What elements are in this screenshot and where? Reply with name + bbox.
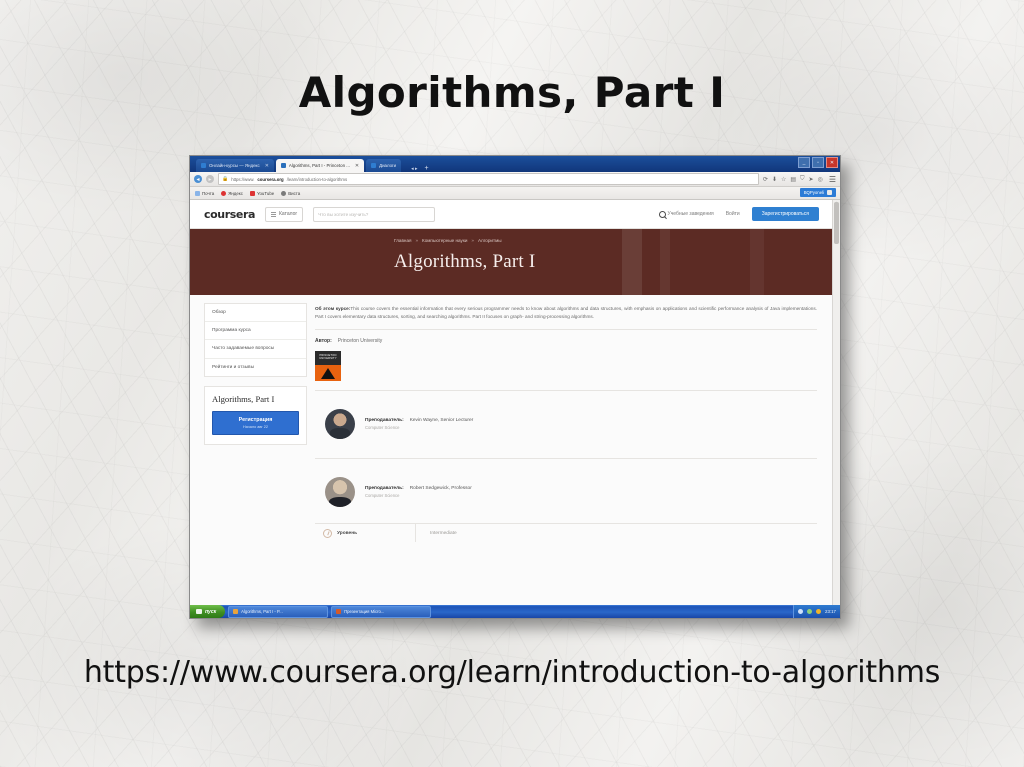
globe-icon [281,191,286,196]
star-icon[interactable]: ☆ [781,176,786,183]
account-icon[interactable]: ◎ [818,176,823,183]
forward-icon[interactable]: ▸ [206,175,214,183]
avatar [325,477,355,507]
shield-icon[interactable]: ⛉ [800,176,805,183]
teacher-department: Computer Science [365,425,473,430]
breadcrumb-item-cs[interactable]: Компьютерные науки [422,238,467,243]
divider [315,329,817,330]
hero-glare [622,229,642,295]
close-window-icon[interactable]: ✕ [826,157,838,168]
taskbar-item-powerpoint[interactable]: Презентация Micro... [331,606,431,618]
browser-viewport: coursera Каталог Что вы хотите изучить? … [190,200,840,618]
bookmark-label: Почта [202,191,214,196]
web-page: coursera Каталог Что вы хотите изучить? … [190,200,833,618]
teacher-line: Преподаватель:Robert Sedgewick, Professo… [365,486,472,491]
teacher-name[interactable]: Robert Sedgewick, Professor [410,486,472,491]
enroll-button-label: Регистрация [215,417,296,423]
hero-glare [660,229,670,295]
breadcrumb-item-home[interactable]: Главная [394,238,411,243]
teacher-line: Преподаватель:Kevin Wayne, Senior Lectur… [365,418,473,423]
lock-icon: 🔒 [222,176,228,182]
browser-window: Онлайн-курсы — Яндекс ✕ Algorithms, Part… [189,155,841,619]
mail-icon [195,191,200,196]
breadcrumb-separator: » [415,238,418,243]
favicon-icon [201,163,206,168]
close-icon[interactable]: ✕ [355,163,359,169]
shield-shape-icon [321,368,335,379]
teacher-row: Преподаватель:Robert Sedgewick, Professo… [315,467,817,517]
breadcrumb-separator: » [471,238,474,243]
browser-tab-1[interactable]: Онлайн-курсы — Яндекс ✕ [196,159,274,172]
start-button[interactable]: пуск [190,605,225,618]
reload-icon[interactable]: ⟳ [763,176,768,183]
course-content: Обзор Программа курса Часто задаваемые в… [190,295,833,542]
url-domain: coursera.org [257,177,283,182]
bookmark-yandex[interactable]: Яндекс [221,191,243,196]
page-scrollbar[interactable]: ▲ ▼ [832,200,840,618]
teacher-info: Преподаватель:Robert Sedgewick, Professo… [365,486,472,498]
minimize-icon[interactable]: _ [798,157,810,168]
yandex-icon [221,191,226,196]
enroll-button-sublabel: Начало авг 22 [215,425,296,429]
course-main: Об этом курсе:This course covers the ess… [307,295,833,542]
enroll-button[interactable]: Регистрация Начало авг 22 [212,411,299,435]
course-hero: Главная » Компьютерные науки » Алгоритмы… [190,229,833,295]
enroll-card-title: Algorithms, Part I [212,394,299,405]
coursera-header: coursera Каталог Что вы хотите изучить? … [190,200,833,229]
close-icon[interactable]: ✕ [265,163,269,169]
user-avatar-icon [827,190,832,195]
favicon-icon [371,163,376,168]
princeton-logo-icon: PRINCETON UNIVERSITY [315,351,341,381]
author-value[interactable]: Princeton University [338,338,382,344]
bookmarks-bar: Почта Яндекс YouTube Виста BQPyoneli [190,187,840,200]
sidebar-item-ratings[interactable]: Рейтинги и отзывы [205,359,306,376]
system-tray: 23:17 [793,605,840,618]
tab-label: Algorithms, Part I - Princeton ... [289,163,350,168]
enroll-card: Algorithms, Part I Регистрация Начало ав… [204,386,307,446]
teacher-department: Computer Science [365,493,472,498]
sidebar-item-syllabus[interactable]: Программа курса [205,322,306,340]
tab-label: Онлайн-курсы — Яндекс [209,163,260,168]
divider [315,390,817,391]
search-icon [659,211,666,218]
bookmark-label: YouTube [257,191,274,196]
nav-link-login[interactable]: Войти [726,211,740,217]
windows-flag-icon [196,609,202,614]
windows-taskbar: пуск Algorithms, Part I - P... Презентац… [190,605,840,618]
download-icon[interactable]: ⬇ [772,176,777,183]
clock[interactable]: 23:17 [825,609,836,614]
search-input[interactable]: Что вы хотите изучить? [313,207,435,222]
maximize-icon[interactable]: ▫ [812,157,824,168]
send-icon[interactable]: ➤ [809,176,814,183]
level-icon [323,529,332,538]
sidebar-item-faq[interactable]: Часто задаваемые вопросы [205,340,306,358]
level-value: Intermediate [416,531,457,536]
tab-scroll-arrows[interactable]: ◂ ▸ [411,166,417,172]
nav-link-label: Учебные заведения [668,211,714,217]
new-tab-icon[interactable]: + [425,165,429,172]
address-bar[interactable]: 🔒 https://www.coursera.org/learn/introdu… [218,173,759,185]
browser-tabstrip: Онлайн-курсы — Яндекс ✕ Algorithms, Part… [190,156,840,172]
breadcrumb-item-algorithms[interactable]: Алгоритмы [478,238,502,243]
bookmark-pochta[interactable]: Почта [195,191,214,196]
about-label: Об этом курсе: [315,306,350,311]
scrollbar-thumb[interactable] [834,202,839,244]
catalog-button[interactable]: Каталог [265,207,303,222]
url-prefix: https://www. [231,177,254,182]
bookmark-vista[interactable]: Виста [281,191,300,196]
teacher-name[interactable]: Kevin Wayne, Senior Lecturer [410,418,474,423]
course-title: Algorithms, Part I [394,251,535,273]
catalog-label: Каталог [279,211,297,217]
bookmark-user-label: BQPyoneli [804,190,824,195]
header-right: Учебные заведения Войти Зарегистрировать… [659,207,819,221]
browser-tab-2[interactable]: Algorithms, Part I - Princeton ... ✕ [276,159,364,172]
powerpoint-icon [336,609,341,614]
teacher-row: Преподаватель:Kevin Wayne, Senior Lectur… [315,399,817,449]
firefox-icon [233,609,238,614]
bookmark-youtube[interactable]: YouTube [250,191,274,196]
princeton-logo-text: PRINCETON UNIVERSITY [315,354,341,360]
author-row: Автор: Princeton University [315,338,817,344]
page-title: Algorithms, Part I [0,68,1024,117]
teacher-label: Преподаватель: [365,418,404,423]
level-label-cell: Уровень [315,524,416,542]
author-label: Автор: [315,338,332,344]
start-label: пуск [205,609,216,615]
level-row: Уровень Intermediate [315,523,817,542]
hero-glare [750,229,764,295]
url-path: /learn/introduction-to-algorithms [287,177,347,182]
network-icon[interactable] [807,609,812,614]
taskbar-item-browser[interactable]: Algorithms, Part I - P... [228,606,328,618]
favicon-icon [281,163,286,168]
shield-tray-icon[interactable] [816,609,821,614]
slide-url: https://www.coursera.org/learn/introduct… [0,655,1024,690]
avatar [325,409,355,439]
back-icon[interactable]: ◂ [194,175,202,183]
youtube-icon [250,191,255,196]
tab-label: Диалоги [379,163,396,168]
taskbar-item-label: Algorithms, Part I - P... [241,609,283,614]
about-text: This course covers the essential informa… [315,306,817,319]
course-sidebar: Обзор Программа курса Часто задаваемые в… [190,295,307,542]
sidebar-item-overview[interactable]: Обзор [205,304,306,322]
level-label: Уровень [337,531,357,536]
divider [315,458,817,459]
breadcrumb: Главная » Компьютерные науки » Алгоритмы [394,238,502,243]
browser-tab-3[interactable]: Диалоги [366,159,401,172]
bookmark-label: Виста [288,191,300,196]
menu-bars-icon [271,212,276,217]
about-course: Об этом курсе:This course covers the ess… [315,305,817,320]
coursera-logo[interactable]: coursera [204,208,255,221]
bookmark-label: Яндекс [228,191,243,196]
menu-icon[interactable]: ☰ [829,175,836,184]
nav-link-institutions[interactable]: Учебные заведения [659,211,714,218]
teacher-label: Преподаватель: [365,486,404,491]
pocket-icon[interactable]: ▤ [790,176,796,183]
bookmark-user-button[interactable]: BQPyoneli [800,188,836,197]
volume-icon[interactable] [798,609,803,614]
teacher-info: Преподаватель:Kevin Wayne, Senior Lectur… [365,418,473,430]
window-controls: _ ▫ ✕ [798,157,838,168]
browser-urlbar: ◂ ▸ 🔒 https://www.coursera.org/learn/int… [190,172,840,187]
signup-button[interactable]: Зарегистрироваться [752,207,819,221]
taskbar-item-label: Презентация Micro... [344,609,384,614]
sidebar-menu: Обзор Программа курса Часто задаваемые в… [204,303,307,377]
